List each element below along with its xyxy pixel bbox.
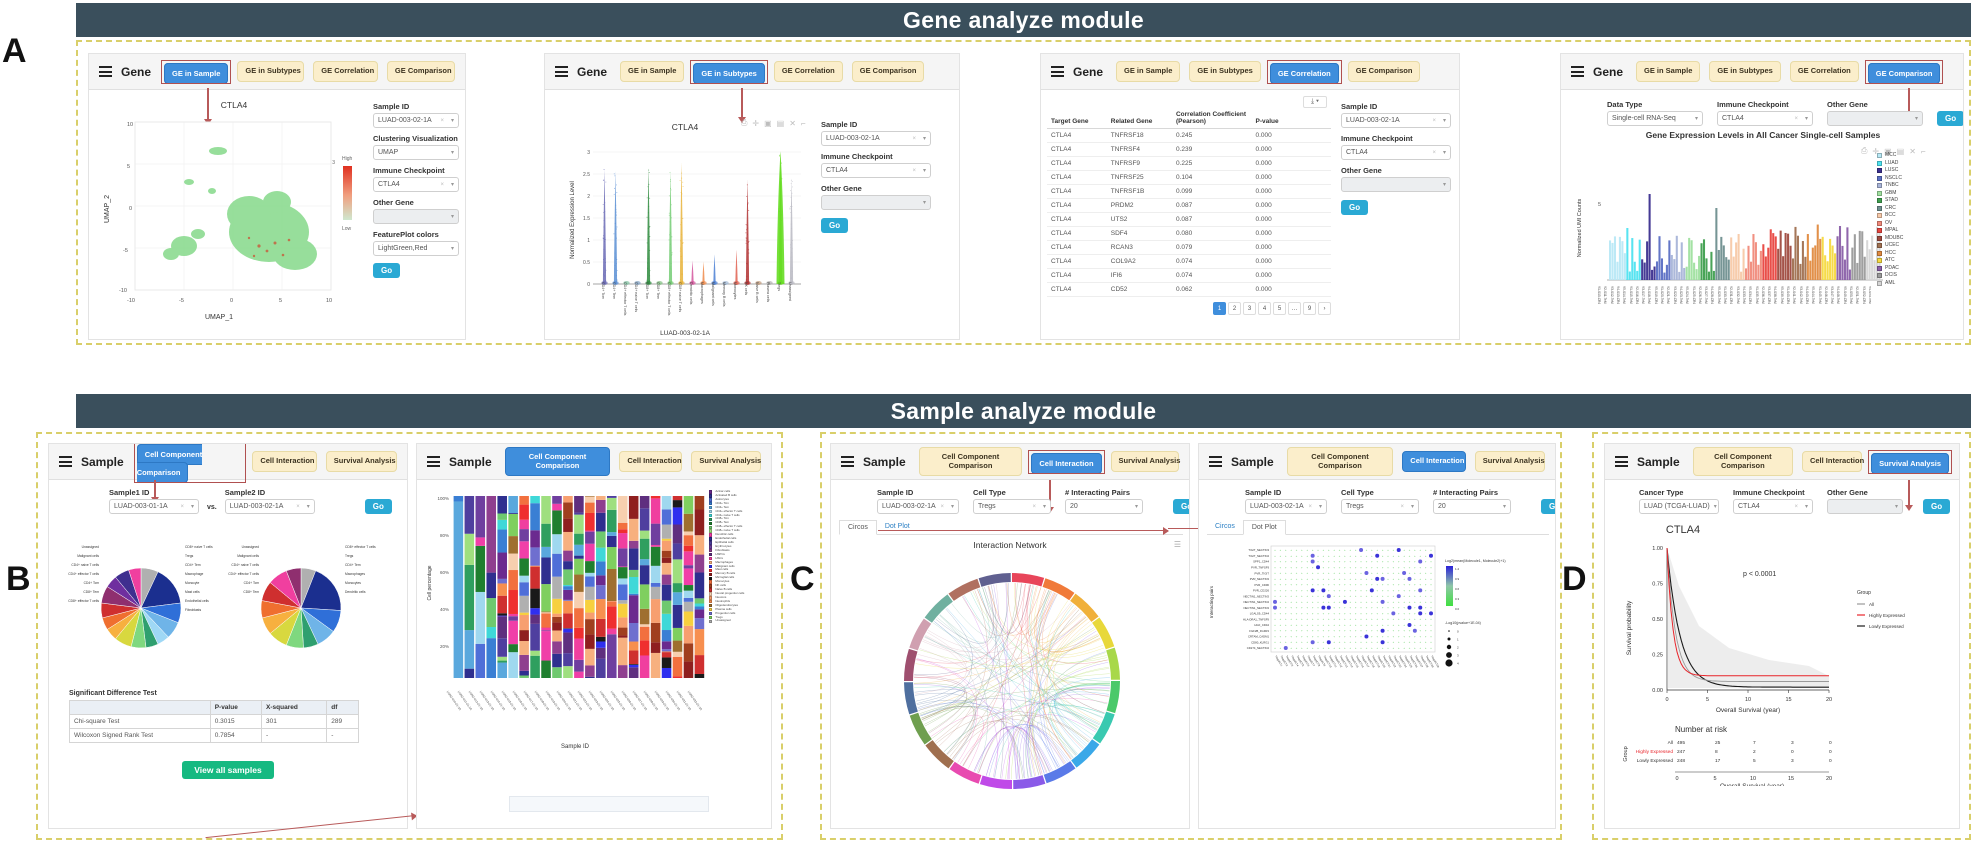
legend-item[interactable]: OV <box>1877 220 1957 228</box>
circos-plot-c1 <box>887 556 1137 806</box>
bar-xtick: Y3-S32-TeM <box>1736 286 1740 304</box>
violin-xtick: NK cells <box>744 282 748 295</box>
select-immune-checkpoint[interactable]: CTLA4 ×▾ <box>1717 111 1813 126</box>
svg-text:NECTIN1_NECTIN3: NECTIN1_NECTIN3 <box>1244 606 1270 610</box>
svg-text:1: 1 <box>1457 638 1459 642</box>
bar-xtick: Y2-S41-TeM <box>1792 286 1796 304</box>
chevron-down-icon: ▾ <box>451 181 454 188</box>
legend-item[interactable]: GBM <box>1877 190 1957 198</box>
chevron-down-icon: ▾ <box>1443 149 1446 156</box>
clear-icon[interactable]: × <box>1308 504 1315 510</box>
tab-cell-component-comparison[interactable]: Cell Component Comparison <box>137 444 203 483</box>
autoscale-icon[interactable]: ✕ <box>789 119 796 128</box>
tab-cell-interaction[interactable]: Cell Interaction <box>252 451 316 472</box>
plot-title-c1: Interaction Network <box>831 540 1189 550</box>
controls-a1: Sample ID LUAD-003-02-1A ×▾ Clustering V… <box>373 102 459 278</box>
legend-swatch <box>709 604 712 607</box>
svg-text:0: 0 <box>1791 749 1794 755</box>
bar-xtick: Y4-S18-TeM <box>1647 286 1651 304</box>
svg-text:25: 25 <box>1715 740 1721 746</box>
tab-cell-component-comparison[interactable]: Cell Component Comparison <box>1693 447 1793 476</box>
table-cell: CTLA4 <box>1047 269 1107 283</box>
tab-ge-comparison[interactable]: GE Comparison <box>1868 63 1941 84</box>
table-header-row: P-valueX-squareddf <box>70 701 359 715</box>
table-cell: 0.074 <box>1172 255 1252 269</box>
select-cell-type[interactable]: Tregs ×▾ <box>973 499 1051 514</box>
violin-xaxis-label: LUAD-003-02-1A <box>565 330 805 337</box>
clear-icon[interactable]: × <box>1794 504 1801 510</box>
sample-nav-header-b2: Sample Cell Component Comparison Cell In… <box>417 444 771 480</box>
chevron-down-icon: ▾ <box>451 117 454 124</box>
svg-text:Cell percentage: Cell percentage <box>427 565 433 600</box>
select-data-type[interactable]: Single-cell RNA-Seq ▾ <box>1607 111 1703 126</box>
table-cell: TNFRSF4 <box>1107 143 1172 157</box>
subtab-dot-plot[interactable]: Dot Plot <box>1243 520 1286 535</box>
label-other-gene: Other Gene <box>1341 166 1451 175</box>
tab-survival-analysis[interactable]: Survival Analysis <box>1475 451 1545 472</box>
chevron-down-icon: ▾ <box>191 503 194 510</box>
svg-text:0.50: 0.50 <box>1652 617 1663 623</box>
b2-footer-bar <box>509 796 709 812</box>
umap-plot-a1: CTLA4 1050 -5-10 -10-50 510 <box>99 98 369 333</box>
table-cell: 0.3015 <box>210 715 261 729</box>
hamburger-icon[interactable] <box>1571 66 1584 77</box>
go-button-a4[interactable]: Go <box>1937 111 1964 126</box>
chevron-down-icon: ▾ <box>1805 503 1808 510</box>
table-cell: 0.245 <box>1172 129 1252 143</box>
legend-item[interactable]: MDUBC <box>1877 235 1957 243</box>
page-button[interactable]: 4 <box>1258 302 1271 315</box>
select-cell-type-value: Tregs <box>1346 503 1364 510</box>
svg-text:0.5: 0.5 <box>583 260 590 266</box>
legend-item[interactable]: LUAD <box>1877 160 1957 168</box>
hamburger-icon[interactable] <box>427 456 440 467</box>
svg-text:Malignant cells: Malignant cells <box>237 554 259 558</box>
hamburger-icon[interactable] <box>99 66 112 77</box>
column-header <box>70 701 211 715</box>
svg-text:20: 20 <box>1826 776 1832 782</box>
legend-swatch <box>709 573 712 576</box>
legend-item[interactable]: TNBC <box>1877 182 1957 190</box>
violin-xtick: CD8+ Tem <box>656 282 660 299</box>
card-cell-interaction-circos: Sample Cell Component Comparison Cell In… <box>830 443 1190 829</box>
select-immune-checkpoint[interactable]: CTLA4 ×▾ <box>821 163 931 178</box>
svg-text:7: 7 <box>1753 740 1756 746</box>
table-row: CTLA4RCAN30.0790.000 <box>1047 241 1331 255</box>
svg-text:Monocyte: Monocyte <box>185 581 199 585</box>
violin-xtick: CD4+ naive T cells <box>634 282 638 312</box>
tab-cell-interaction[interactable]: Cell Interaction <box>1802 451 1862 472</box>
svg-text:CD4+ Tem: CD4+ Tem <box>345 563 361 567</box>
legend-item[interactable]: MCC <box>1877 152 1957 160</box>
column-header[interactable]: Related Gene <box>1107 108 1172 129</box>
svg-text:0: 0 <box>1829 740 1832 746</box>
violin-xtick: CD8+ Tcm <box>645 282 649 299</box>
app-name-sample: Sample <box>1637 455 1680 469</box>
legend-item[interactable]: LUSC <box>1877 167 1957 175</box>
tab-ge-comparison[interactable]: GE Comparison <box>387 61 455 82</box>
tab-survival-analysis[interactable]: Survival Analysis <box>691 451 761 472</box>
b2-xtick-labels: LUAD-010-01-1ALUAD-011-01-1ALUAD-012-01-… <box>445 690 705 742</box>
legend-item[interactable]: Unassigned <box>709 619 771 623</box>
sig-test-table: P-valueX-squareddf Chi-square Test0.3015… <box>69 700 359 743</box>
gene-nav-header-a2: Gene GE in Sample GE in Subtypes GE Corr… <box>545 54 959 90</box>
legend-swatch <box>1877 153 1882 158</box>
clear-icon[interactable]: × <box>1032 504 1039 510</box>
column-header[interactable]: Correlation Coefficient (Pearson) <box>1172 108 1252 129</box>
legend-label: LUAD <box>1885 160 1898 168</box>
legend-swatch <box>709 506 712 509</box>
svg-text:1.00: 1.00 <box>1652 546 1663 552</box>
legend-item[interactable]: HCC <box>1877 250 1957 258</box>
table-cell: 0.000 <box>1251 269 1331 283</box>
label-sample-id: Sample ID <box>821 120 931 129</box>
svg-text:3: 3 <box>1791 758 1794 764</box>
table-cell: 0.000 <box>1251 241 1331 255</box>
tab-cell-component-comparison[interactable]: Cell Component Comparison <box>505 447 611 476</box>
tab-cell-interaction[interactable]: Cell Interaction <box>1031 453 1101 474</box>
clear-icon[interactable]: × <box>440 182 447 188</box>
select-sample-id[interactable]: LUAD-003-02-1A ×▾ <box>373 113 459 128</box>
clear-icon[interactable]: × <box>1794 116 1801 122</box>
table-cell: CTLA4 <box>1047 185 1107 199</box>
select-data-type-value: Single-cell RNA-Seq <box>1612 115 1676 122</box>
svg-text:10: 10 <box>1745 697 1751 703</box>
bar-xtick: Y3-S22-CR4 <box>1673 286 1677 304</box>
tab-ge-in-sample[interactable]: GE in Sample <box>1636 61 1700 82</box>
clear-icon[interactable]: × <box>940 504 947 510</box>
table-cell: 0.000 <box>1251 129 1331 143</box>
select-other-gene[interactable]: ▾ <box>1827 499 1903 514</box>
legend-swatch <box>709 608 712 611</box>
select-sample2-id-value: LUAD-003-02-1A <box>230 503 284 510</box>
controls-c2: Sample ID LUAD-003-02-1A ×▾ Cell Type Tr… <box>1245 488 1556 514</box>
page-button[interactable]: › <box>1318 302 1331 315</box>
select-clustering[interactable]: UMAP ▾ <box>373 145 459 160</box>
hamburger-icon[interactable] <box>1051 66 1064 77</box>
plotly-modebar-a2[interactable]: ⎙ ✛ ▣ ▤ ✕ ⌐ <box>741 118 806 128</box>
table-cell: UTS2 <box>1107 213 1172 227</box>
clear-icon[interactable]: × <box>180 504 187 510</box>
tab-cell-component-comparison[interactable]: Cell Component Comparison <box>1287 447 1394 476</box>
camera-icon[interactable]: ⎙ <box>741 118 747 128</box>
svg-text:0.3: 0.3 <box>1455 597 1460 601</box>
subtabs-c1: Circos Dot Plot <box>839 520 1183 535</box>
table-cell: TNFRSF18 <box>1107 129 1172 143</box>
tab-pointer-arrow-a2 <box>741 88 743 118</box>
select-immune-checkpoint[interactable]: CTLA4 ×▾ <box>373 177 459 192</box>
download-icon[interactable]: ⤓ ▾ <box>1303 96 1327 108</box>
svg-text:15: 15 <box>1785 697 1791 703</box>
go-button-c2[interactable]: Go <box>1541 499 1556 514</box>
select-featureplot-colors[interactable]: LightGreen,Red ▾ <box>373 241 459 256</box>
violin-xtick: Plasma cells <box>766 282 770 302</box>
svg-text:Highly Expressed: Highly Expressed <box>1869 613 1905 618</box>
legend-swatch <box>1877 198 1882 203</box>
clear-icon[interactable]: × <box>912 136 919 142</box>
svg-text:0.00: 0.00 <box>1652 688 1663 694</box>
svg-text:CD80_KLRG1: CD80_KLRG1 <box>1251 640 1269 644</box>
svg-text:SPP1_CD44: SPP1_CD44 <box>1253 560 1269 564</box>
select-immune-checkpoint-value: CTLA4 <box>1346 149 1368 156</box>
go-button-a2[interactable]: Go <box>821 218 848 233</box>
gene-module-title: Gene analyze module <box>903 7 1144 34</box>
table-cell: 0.000 <box>1251 157 1331 171</box>
subtab-circos[interactable]: Circos <box>1207 520 1243 534</box>
svg-text:PVR_NECTIN3: PVR_NECTIN3 <box>1250 577 1270 581</box>
reset-axes-icon[interactable]: ⌐ <box>801 119 806 128</box>
tab-wrap-ge-correlation: GE Correlation <box>1270 63 1339 81</box>
svg-text:CD8+ Tem: CD8+ Tem <box>83 590 99 594</box>
svg-text:Normalized UMI Counts: Normalized UMI Counts <box>1577 199 1583 258</box>
select-interacting-pairs[interactable]: 20 ▾ <box>1065 499 1143 514</box>
legend-item[interactable]: MPAL <box>1877 227 1957 235</box>
clear-icon[interactable]: × <box>296 504 303 510</box>
table-cell: Chi-square Test <box>70 715 211 729</box>
plot-title-a1: CTLA4 <box>99 100 369 110</box>
column-header[interactable]: Target Gene <box>1047 108 1107 129</box>
hamburger-icon[interactable] <box>59 456 72 467</box>
table-cell: CTLA4 <box>1047 255 1107 269</box>
page-button[interactable]: … <box>1288 302 1301 315</box>
legend-item[interactable]: CRC <box>1877 205 1957 213</box>
legend-swatch <box>1877 281 1882 286</box>
legend-swatch <box>709 569 712 572</box>
table-cell: RCAN3 <box>1107 241 1172 255</box>
table-cell: 0.000 <box>1251 199 1331 213</box>
hamburger-icon[interactable] <box>1209 456 1222 467</box>
svg-text:Overall Survival (year): Overall Survival (year) <box>1720 783 1784 786</box>
pagination[interactable]: 12345…9› <box>1047 302 1331 315</box>
table-row: CTLA4TNFRSF250.1040.000 <box>1047 171 1331 185</box>
tab-ge-in-sample[interactable]: GE in Sample <box>164 63 228 84</box>
view-all-samples-button[interactable]: View all samples <box>182 761 273 779</box>
tab-ge-comparison[interactable]: GE Comparison <box>852 61 925 82</box>
select-sample-id[interactable]: LUAD-003-02-1A ×▾ <box>1245 499 1327 514</box>
table-cell: 0.000 <box>1251 283 1331 297</box>
violin-xtick: Monocytes <box>733 282 737 299</box>
correlation-table: Target GeneRelated GeneCorrelation Coeff… <box>1047 108 1331 297</box>
select-other-gene[interactable]: ▾ <box>821 195 931 210</box>
zoom-box-icon[interactable]: ▣ <box>764 119 772 128</box>
legend-swatch <box>709 580 712 583</box>
svg-text:Endothelial cells: Endothelial cells <box>185 599 209 603</box>
legend-swatch <box>1877 213 1882 218</box>
chevron-down-icon: ▾ <box>1443 181 1446 188</box>
table-cell: 0.104 <box>1172 171 1252 185</box>
select-other-gene[interactable]: ▾ <box>1341 177 1451 192</box>
significant-difference-test: Significant Difference Test P-valueX-squ… <box>69 690 359 743</box>
clear-icon[interactable]: × <box>440 118 447 124</box>
violin-xtick: Naive B cells <box>755 282 759 303</box>
legend-label: OV <box>1885 220 1892 228</box>
legend-swatch <box>709 545 712 548</box>
legend-swatch <box>1877 236 1882 241</box>
svg-text:CD4+ Tcm: CD4+ Tcm <box>84 581 100 585</box>
select-sample-id-value: LUAD-003-02-1A <box>1250 503 1304 510</box>
legend-label: GBM <box>1885 190 1896 198</box>
select-cell-type-value: Tregs <box>978 503 996 510</box>
legend-swatch <box>709 612 712 615</box>
svg-text:5: 5 <box>1753 758 1756 764</box>
svg-text:1: 1 <box>587 238 590 244</box>
tab-survival-analysis[interactable]: Survival Analysis <box>326 451 397 472</box>
legend-swatch <box>1877 273 1882 278</box>
page-button[interactable]: 1 <box>1213 302 1226 315</box>
select-immune-checkpoint[interactable]: CTLA4 ×▾ <box>1341 145 1451 160</box>
go-button-a1[interactable]: Go <box>373 263 400 278</box>
label-sample-id: Sample ID <box>1341 102 1451 111</box>
select-interacting-pairs[interactable]: 20 ▾ <box>1433 499 1511 514</box>
svg-text:TIGIT_NECTIN2: TIGIT_NECTIN2 <box>1248 554 1269 558</box>
stacked-bar-chart-b2: 100%80%60% 40%20% Cell percentage <box>423 488 709 688</box>
go-button-d1[interactable]: Go <box>1923 499 1950 514</box>
select-cell-type[interactable]: Tregs ×▾ <box>1341 499 1419 514</box>
table-cell: CTLA4 <box>1047 227 1107 241</box>
tab-cell-interaction[interactable]: Cell Interaction <box>619 451 682 472</box>
subtab-dot-plot[interactable]: Dot Plot <box>877 520 918 534</box>
svg-text:Interacting pairs: Interacting pairs <box>1209 585 1214 618</box>
select-sample1-id-value: LUAD-003-01-1A <box>114 503 168 510</box>
clear-icon[interactable]: × <box>912 168 919 174</box>
bar-xtick: Y1-S30-TeM <box>1723 286 1727 304</box>
legend-item[interactable]: STAD <box>1877 197 1957 205</box>
hamburger-icon[interactable] <box>555 66 568 77</box>
select-other-gene[interactable]: ▾ <box>1827 111 1923 126</box>
select-immune-checkpoint-value: CTLA4 <box>826 167 848 174</box>
column-header: df <box>327 701 359 715</box>
select-sample1-id[interactable]: LUAD-003-01-1A ×▾ <box>109 499 199 514</box>
hamburger-icon[interactable] <box>841 456 854 467</box>
tab-wrap-ge-in-sample: GE in Sample <box>164 63 228 81</box>
svg-text:60%: 60% <box>440 570 449 575</box>
column-header: X-squared <box>262 701 327 715</box>
svg-text:Tregs: Tregs <box>345 554 354 558</box>
bar-xtick: Y2-S46-CR4 <box>1824 286 1828 304</box>
legend-item[interactable]: ATC <box>1877 257 1957 265</box>
svg-text:248: 248 <box>1677 758 1685 764</box>
legend-item[interactable]: DCIS <box>1877 272 1957 280</box>
select-sample-id[interactable]: LUAD-003-02-1A ×▾ <box>821 131 931 146</box>
panel-letter-c: C <box>790 560 815 599</box>
chevron-down-icon: ▾ <box>451 245 454 252</box>
select-sample-id[interactable]: LUAD-003-02-1A ×▾ <box>877 499 959 514</box>
legend-swatch <box>709 526 712 529</box>
legend-item[interactable]: NSCLC <box>1877 175 1957 183</box>
tab-ge-correlation[interactable]: GE Correlation <box>774 61 843 82</box>
tab-ge-correlation[interactable]: GE Correlation <box>1790 61 1859 82</box>
legend-swatch <box>709 588 712 591</box>
tab-ge-in-subtypes[interactable]: GE in Subtypes <box>1709 61 1780 82</box>
page-button[interactable]: 5 <box>1273 302 1286 315</box>
label-other-gene: Other Gene <box>373 198 459 207</box>
b2-xaxis-label: Sample ID <box>445 744 705 750</box>
app-name-sample: Sample <box>863 455 906 469</box>
tab-ge-in-sample[interactable]: GE in Sample <box>620 61 684 82</box>
clear-icon[interactable]: × <box>1432 150 1439 156</box>
select-immune-checkpoint[interactable]: CTLA4 ×▾ <box>1733 499 1813 514</box>
legend-item[interactable]: UCEC <box>1877 242 1957 250</box>
svg-text:CD4+ effector T cells: CD4+ effector T cells <box>68 572 99 576</box>
hamburger-menu-icon[interactable]: ☰ <box>1174 540 1181 549</box>
legend-item[interactable]: AML <box>1877 280 1957 288</box>
violin-xtick: CD4+ effector T cells <box>623 282 627 315</box>
tab-ge-in-sample[interactable]: GE in Sample <box>1116 61 1180 82</box>
card-ge-in-subtypes: Gene GE in Sample GE in Subtypes GE Corr… <box>544 53 960 340</box>
svg-text:-5: -5 <box>123 248 128 254</box>
tab-ge-comparison[interactable]: GE Comparison <box>1348 61 1421 82</box>
app-name-sample: Sample <box>1231 455 1274 469</box>
select-cancer-type[interactable]: LUAD (TCGA-LUAD) ▾ <box>1639 499 1719 514</box>
column-header[interactable]: P-value <box>1251 108 1331 129</box>
pan-icon[interactable]: ▤ <box>777 119 785 128</box>
clear-icon[interactable]: × <box>1432 118 1439 124</box>
tab-ge-in-subtypes[interactable]: GE in Subtypes <box>693 63 764 84</box>
page-button[interactable]: 3 <box>1243 302 1256 315</box>
table-cell: 0.000 <box>1251 171 1331 185</box>
card-survival-analysis: Sample Cell Component Comparison Cell In… <box>1604 443 1960 829</box>
chevron-down-icon: ▾ <box>1695 115 1698 122</box>
page-button[interactable]: 2 <box>1228 302 1241 315</box>
go-button-c1[interactable]: Go <box>1173 499 1190 514</box>
table-cell: 0.7854 <box>210 729 261 743</box>
svg-text:All: All <box>1668 740 1673 746</box>
legend-swatch <box>1877 258 1882 263</box>
select-sample-id[interactable]: LUAD-003-02-1A ×▾ <box>1341 113 1451 128</box>
table-cell: - <box>327 729 359 743</box>
legend-item[interactable]: PDAC <box>1877 265 1957 273</box>
page-button[interactable]: 9 <box>1303 302 1316 315</box>
table-download-wrap[interactable]: ⤓ ▾ <box>1047 96 1331 108</box>
label-interacting-pairs: # Interacting Pairs <box>1433 488 1511 497</box>
go-button-a3[interactable]: Go <box>1341 200 1368 215</box>
legend-item[interactable]: BCC <box>1877 212 1957 220</box>
table-cell: 0.000 <box>1251 143 1331 157</box>
tab-survival-analysis[interactable]: Survival Analysis <box>1111 451 1179 472</box>
svg-text:CD4+ effector T cells: CD4+ effector T cells <box>228 572 259 576</box>
select-sample-id-value: LUAD-003-02-1A <box>826 135 880 142</box>
go-button-b1[interactable]: Go <box>365 499 392 514</box>
svg-text:CD8+ effector T cells: CD8+ effector T cells <box>345 545 376 549</box>
select-sample2-id[interactable]: LUAD-003-02-1A ×▾ <box>225 499 315 514</box>
tab-cell-interaction[interactable]: Cell Interaction <box>1402 451 1466 472</box>
label-clustering: Clustering Visualization <box>373 134 459 143</box>
clear-icon[interactable]: × <box>1400 504 1407 510</box>
zoom-in-icon[interactable]: ✛ <box>752 119 759 128</box>
select-other-gene[interactable]: ▾ <box>373 209 459 224</box>
tab-ge-in-subtypes[interactable]: GE in Subtypes <box>1189 61 1260 82</box>
table-row: Chi-square Test0.3015301289 <box>70 715 359 729</box>
cancer-bar-chart-a4: 5 Normalized UMI Counts <box>1571 154 1885 294</box>
panel-letter-b: B <box>6 560 31 599</box>
subtab-circos[interactable]: Circos <box>839 520 877 535</box>
hamburger-icon[interactable] <box>1615 456 1628 467</box>
violin-xtick: Memory B cells <box>722 282 726 307</box>
svg-text:100%: 100% <box>437 496 449 501</box>
sample-nav-header-d1: Sample Cell Component Comparison Cell In… <box>1605 444 1959 480</box>
tab-survival-analysis[interactable]: Survival Analysis <box>1871 453 1949 474</box>
legend-label: LUSC <box>1885 167 1898 175</box>
card-ge-in-sample: Gene GE in Sample GE in Subtypes GE Corr… <box>88 53 466 340</box>
tab-ge-in-subtypes[interactable]: GE in Subtypes <box>237 61 304 82</box>
tab-cell-component-comparison[interactable]: Cell Component Comparison <box>919 447 1023 476</box>
legend-a4: MCCLUADLUSCNSCLCTNBCGBMSTADCRCBCCOVMPALM… <box>1877 152 1957 287</box>
tab-ge-correlation[interactable]: GE Correlation <box>313 61 378 82</box>
svg-text:15: 15 <box>1788 776 1794 782</box>
bar-xtick: Y1-S10-CR4 <box>1597 286 1601 304</box>
svg-text:Mast cells: Mast cells <box>185 590 200 594</box>
tab-ge-correlation[interactable]: GE Correlation <box>1270 63 1339 84</box>
